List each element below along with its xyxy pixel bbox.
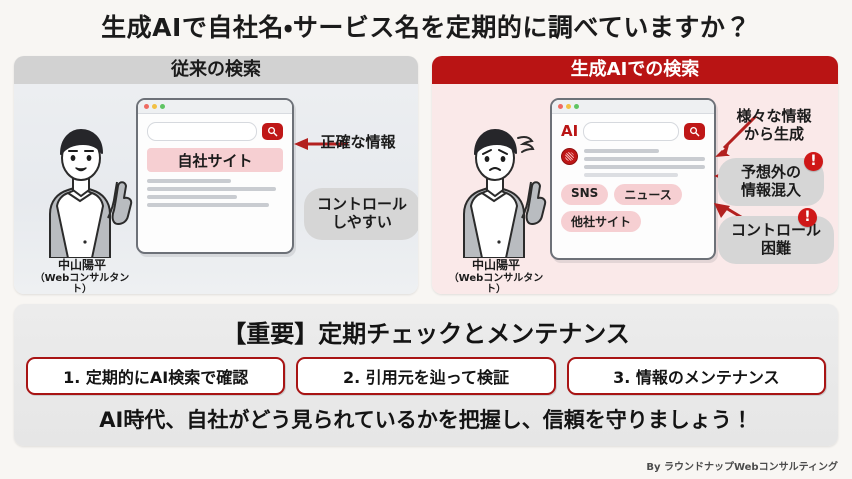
ai-answer-block — [561, 148, 705, 177]
source-tag-sns[interactable]: SNS — [561, 184, 608, 205]
summary-heading: 【重要】定期チェックとメンテナンス — [14, 304, 838, 349]
callout-various-info-line2: から生成 — [714, 126, 834, 144]
window-close-dot-icon — [144, 104, 149, 109]
source-tag-other-site[interactable]: 他社サイト — [561, 211, 641, 232]
infographic-canvas: 生成AIで自社名・サービス名を定期的に調べていますか？ 従来の検索 — [0, 0, 852, 479]
step-item-1[interactable]: 1. 定期的にAI検索で確認 — [26, 357, 285, 395]
step-item-3[interactable]: 3. 情報のメンテナンス — [567, 357, 826, 395]
window-minimize-dot-icon — [152, 104, 157, 109]
person-right-role: （Webコンサルタント） — [444, 273, 548, 294]
result-line — [147, 203, 269, 207]
callout-control-difficult-line2: 困難 — [761, 240, 791, 258]
browser-titlebar — [138, 100, 292, 114]
magnifier-glyph-icon — [267, 126, 278, 137]
person-right-name: 中山陽平 — [444, 259, 548, 273]
source-tag-list: SNS ニュース 他社サイト — [561, 184, 705, 232]
action-summary-section: 【重要】定期チェックとメンテナンス 1. 定期的にAI検索で確認 2. 引用元を… — [14, 304, 838, 446]
result-line — [147, 195, 237, 199]
ai-label: AI — [561, 124, 578, 139]
window-maximize-dot-icon — [160, 104, 165, 109]
panel-ai-search: 生成AIでの検索 — [432, 56, 838, 294]
credit-line: By ラウンドナップWebコンサルティング — [646, 458, 838, 473]
window-maximize-dot-icon — [574, 104, 579, 109]
result-line — [584, 165, 705, 169]
result-line — [147, 187, 276, 191]
callout-generated-from-various-info: 様々な情報 から生成 — [714, 108, 834, 143]
person-figure-confident-icon — [30, 122, 134, 258]
result-line — [147, 179, 231, 183]
callout-easy-control-line1: コントロール — [317, 196, 407, 214]
panel-right-heading: 生成AIでの検索 — [432, 56, 838, 84]
ai-answer-lines — [584, 148, 705, 177]
alert-badge-unexpected-info-icon: ! — [804, 152, 823, 171]
magnifier-glyph-icon — [689, 126, 700, 137]
person-figure-worried-icon — [444, 122, 548, 258]
callout-easy-control-line2: しやすい — [332, 214, 392, 232]
callout-unexpected-line1: 予想外の — [741, 164, 801, 182]
search-input[interactable] — [147, 122, 257, 141]
callout-accurate-info: 正確な情報 — [302, 134, 414, 152]
search-bar-row — [147, 122, 283, 141]
person-illustration-left: 中山陽平 （Webコンサルタント） — [30, 122, 134, 294]
window-close-dot-icon — [558, 104, 563, 109]
person-illustration-right: 中山陽平 （Webコンサルタント） — [444, 122, 548, 294]
summary-conclusion: AI時代、自社がどう見られているかを把握し、信頼を守りましょう！ — [14, 395, 838, 434]
browser-mockup-ai: AI — [550, 98, 716, 260]
callout-easy-control: コントロール しやすい — [304, 188, 418, 240]
browser-content: 自社サイト — [138, 114, 292, 216]
step-list: 1. 定期的にAI検索で確認 2. 引用元を辿って検証 3. 情報のメンテナンス — [14, 349, 838, 395]
page-title: 生成AIで自社名・サービス名を定期的に調べていますか？ — [0, 8, 852, 44]
window-minimize-dot-icon — [566, 104, 571, 109]
search-icon[interactable] — [262, 123, 283, 140]
result-line — [584, 157, 705, 161]
callout-control-difficult: コントロール 困難 — [718, 216, 834, 264]
step-item-2[interactable]: 2. 引用元を辿って検証 — [296, 357, 555, 395]
search-input[interactable] — [583, 122, 679, 141]
source-tag-news[interactable]: ニュース — [614, 184, 681, 205]
panel-left-heading: 従来の検索 — [14, 56, 418, 84]
person-left-name: 中山陽平 — [30, 259, 134, 273]
result-line — [584, 149, 659, 153]
browser-titlebar — [552, 100, 714, 114]
browser-mockup-traditional: 自社サイト — [136, 98, 294, 254]
browser-content: AI — [552, 114, 714, 241]
result-placeholder-lines — [147, 179, 283, 207]
callout-various-info-line1: 様々な情報 — [714, 108, 834, 126]
result-line — [584, 173, 678, 177]
panel-right-body: 中山陽平 （Webコンサルタント） AI — [432, 84, 838, 294]
alert-badge-control-difficult-icon: ! — [798, 208, 817, 227]
highlighted-result-own-site: 自社サイト — [147, 148, 283, 172]
ai-orb-icon — [561, 148, 578, 165]
panel-left-body: 中山陽平 （Webコンサルタント） — [14, 84, 418, 294]
person-left-role: （Webコンサルタント） — [30, 273, 134, 294]
callout-unexpected-line2: 情報混入 — [741, 182, 801, 200]
panel-traditional-search: 従来の検索 — [14, 56, 418, 294]
search-icon[interactable] — [684, 123, 705, 140]
ai-search-bar-row: AI — [561, 122, 705, 141]
